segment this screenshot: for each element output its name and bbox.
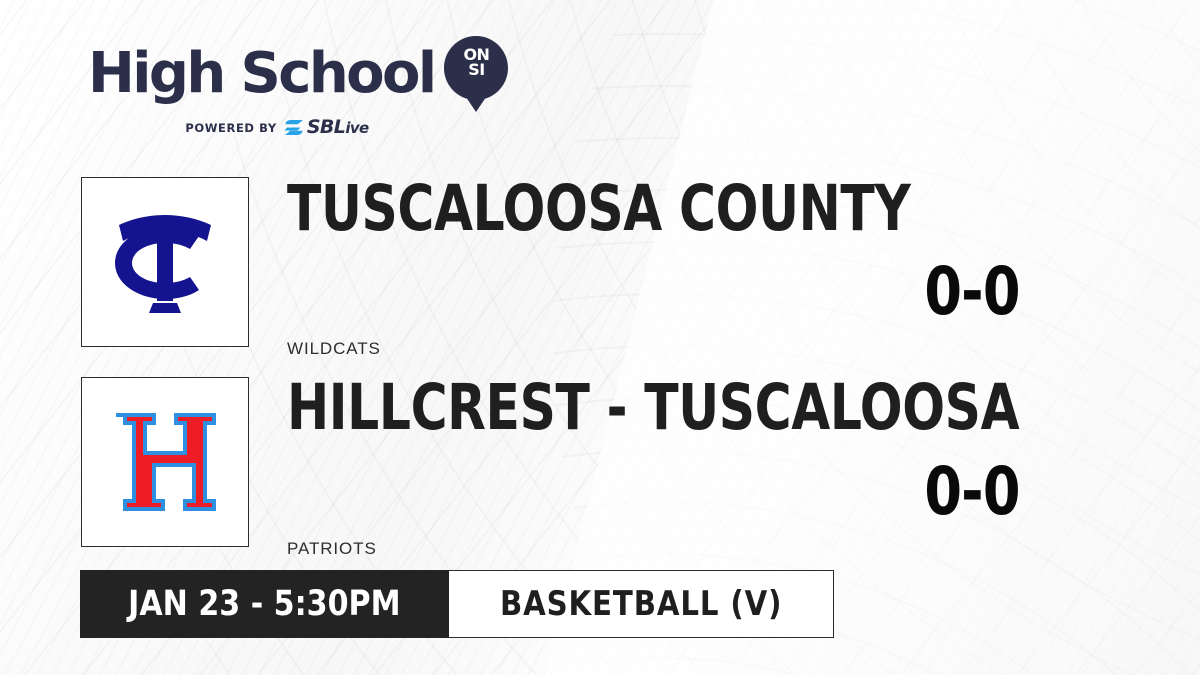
pin-line-si: SI: [444, 62, 508, 77]
sblive-wordmark: SBLive: [307, 118, 369, 137]
game-datetime-text: JAN 23 - 5:30PM: [128, 587, 400, 622]
on-si-pin-text: ON SI: [444, 47, 508, 77]
tuscaloosa-county-tc-monogram-icon: [105, 203, 225, 321]
on-si-pin-icon: ON SI: [444, 36, 508, 112]
away-team-record: 0-0: [890, 459, 1054, 525]
game-sport-block: BASKETBALL (V): [449, 570, 834, 638]
matchup-graphic: High School ON SI POWERED BY SBLive: [0, 0, 1200, 675]
footer-bar: JAN 23 - 5:30PM BASKETBALL (V): [80, 570, 834, 638]
sblive-s-mark-icon: [284, 119, 304, 136]
sblive-bold: SBL: [307, 116, 345, 138]
hillcrest-h-monogram-icon: [106, 403, 224, 521]
sblive-light: ive: [345, 119, 368, 137]
brand-wordmark: High School: [88, 46, 434, 102]
away-team-name: HILLCREST - TUSCALOOSA: [287, 379, 1019, 437]
home-team-logo-box: [81, 177, 249, 347]
home-team-record: 0-0: [890, 259, 1054, 325]
game-datetime-block: JAN 23 - 5:30PM: [80, 570, 449, 638]
home-team-mascot: WILDCATS: [287, 339, 381, 359]
away-team-mascot: PATRIOTS: [287, 539, 377, 559]
powered-by-label: POWERED BY: [185, 121, 276, 135]
brand-lockup: High School ON SI POWERED BY SBLive: [88, 36, 508, 137]
brand-row: High School ON SI: [88, 36, 508, 112]
powered-by-row: POWERED BY SBLive: [88, 118, 508, 137]
home-team-name: TUSCALOOSA COUNTY: [287, 180, 910, 238]
away-team-logo-box: [81, 377, 249, 547]
game-sport-text: BASKETBALL (V): [500, 587, 782, 621]
sblive-logo: SBLive: [284, 118, 369, 137]
